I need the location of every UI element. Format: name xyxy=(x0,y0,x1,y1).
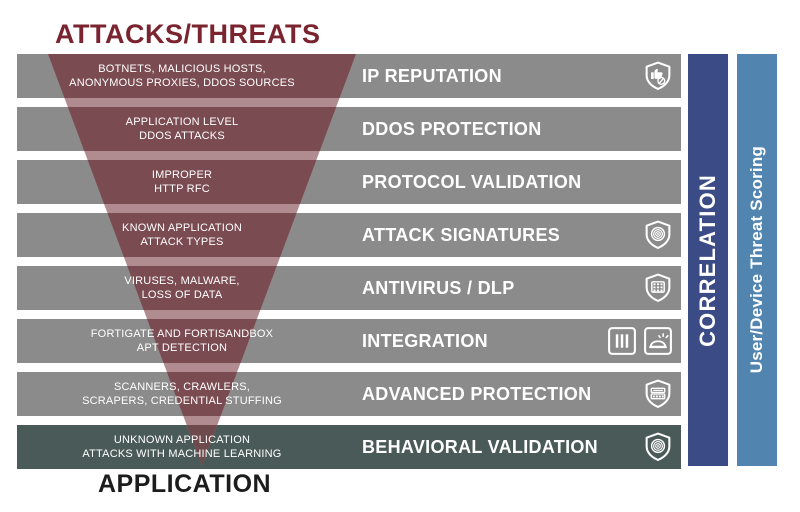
security-layer-row[interactable]: FORTIGATE AND FORTISANDBOXAPT DETECTIONI… xyxy=(17,319,681,363)
threat-description: IMPROPERHTTP RFC xyxy=(17,160,347,204)
row-icon-group xyxy=(643,425,673,469)
shield-fingerprint-icon xyxy=(643,431,673,463)
defense-label: DDOS PROTECTION xyxy=(362,107,542,151)
threat-line: ATTACK TYPES xyxy=(140,235,223,249)
page-title: ATTACKS/THREATS xyxy=(55,19,320,50)
threat-description: VIRUSES, MALWARE,LOSS OF DATA xyxy=(17,266,347,310)
footer-label: APPLICATION xyxy=(98,470,271,499)
row-icon-group xyxy=(643,213,673,257)
panel-threat-scoring: User/Device Threat Scoring xyxy=(737,54,777,466)
threat-line: DDOS ATTACKS xyxy=(139,129,225,143)
threat-line: SCANNERS, CRAWLERS, xyxy=(114,380,250,394)
threat-description: KNOWN APPLICATIONATTACK TYPES xyxy=(17,213,347,257)
diagram-canvas: ATTACKS/THREATS BOTNETS, MALICIOUS HOSTS… xyxy=(0,0,800,512)
threat-line: UNKNOWN APPLICATION xyxy=(114,433,250,447)
security-layer-row[interactable]: SCANNERS, CRAWLERS,SCRAPERS, CREDENTIAL … xyxy=(17,372,681,416)
threat-description: SCANNERS, CRAWLERS,SCRAPERS, CREDENTIAL … xyxy=(17,372,347,416)
threat-line: VIRUSES, MALWARE, xyxy=(124,274,239,288)
security-layer-row[interactable]: VIRUSES, MALWARE,LOSS OF DATAANTIVIRUS /… xyxy=(17,266,681,310)
shield-fingerprint-icon xyxy=(643,219,673,251)
security-layer-row[interactable]: KNOWN APPLICATIONATTACK TYPESATTACK SIGN… xyxy=(17,213,681,257)
security-layer-row[interactable]: UNKNOWN APPLICATIONATTACKS WITH MACHINE … xyxy=(17,425,681,469)
row-icon-group xyxy=(643,372,673,416)
defense-label: INTEGRATION xyxy=(362,319,488,363)
threat-description: APPLICATION LEVELDDOS ATTACKS xyxy=(17,107,347,151)
threat-line: FORTIGATE AND FORTISANDBOX xyxy=(91,327,273,341)
firewall-bars-icon xyxy=(607,325,637,357)
threat-line: IMPROPER xyxy=(152,168,212,182)
threat-line: ATTACKS WITH MACHINE LEARNING xyxy=(82,447,281,461)
threat-line: LOSS OF DATA xyxy=(142,288,223,302)
layer-stack: BOTNETS, MALICIOUS HOSTS,ANONYMOUS PROXI… xyxy=(17,54,681,466)
threat-line: ANONYMOUS PROXIES, DDOS SOURCES xyxy=(69,76,295,90)
security-layer-row[interactable]: APPLICATION LEVELDDOS ATTACKSDDOS PROTEC… xyxy=(17,107,681,151)
defense-label: ANTIVIRUS / DLP xyxy=(362,266,515,310)
security-layer-row[interactable]: IMPROPERHTTP RFCPROTOCOL VALIDATION xyxy=(17,160,681,204)
panel-threat-scoring-label: User/Device Threat Scoring xyxy=(747,146,767,373)
panel-correlation: CORRELATION xyxy=(688,54,728,466)
threat-description: BOTNETS, MALICIOUS HOSTS,ANONYMOUS PROXI… xyxy=(17,54,347,98)
defense-label: IP REPUTATION xyxy=(362,54,502,98)
threat-line: KNOWN APPLICATION xyxy=(122,221,242,235)
defense-label: ATTACK SIGNATURES xyxy=(362,213,560,257)
defense-label: BEHAVIORAL VALIDATION xyxy=(362,425,598,469)
threat-description: UNKNOWN APPLICATIONATTACKS WITH MACHINE … xyxy=(17,425,347,469)
shield-grid-icon xyxy=(643,272,673,304)
threat-line: HTTP RFC xyxy=(154,182,210,196)
security-layer-row[interactable]: BOTNETS, MALICIOUS HOSTS,ANONYMOUS PROXI… xyxy=(17,54,681,98)
threat-line: APT DETECTION xyxy=(137,341,227,355)
threat-line: APPLICATION LEVEL xyxy=(126,115,239,129)
threat-line: BOTNETS, MALICIOUS HOSTS, xyxy=(98,62,266,76)
sandbox-dome-icon xyxy=(643,325,673,357)
shield-list-icon xyxy=(643,378,673,410)
defense-label: PROTOCOL VALIDATION xyxy=(362,160,581,204)
defense-label: ADVANCED PROTECTION xyxy=(362,372,591,416)
threat-line: SCRAPERS, CREDENTIAL STUFFING xyxy=(82,394,282,408)
shield-thumbsup-icon xyxy=(643,60,673,92)
row-icon-group xyxy=(643,54,673,98)
row-icon-group xyxy=(607,319,673,363)
threat-description: FORTIGATE AND FORTISANDBOXAPT DETECTION xyxy=(17,319,347,363)
panel-correlation-label: CORRELATION xyxy=(695,174,721,347)
row-icon-group xyxy=(643,266,673,310)
